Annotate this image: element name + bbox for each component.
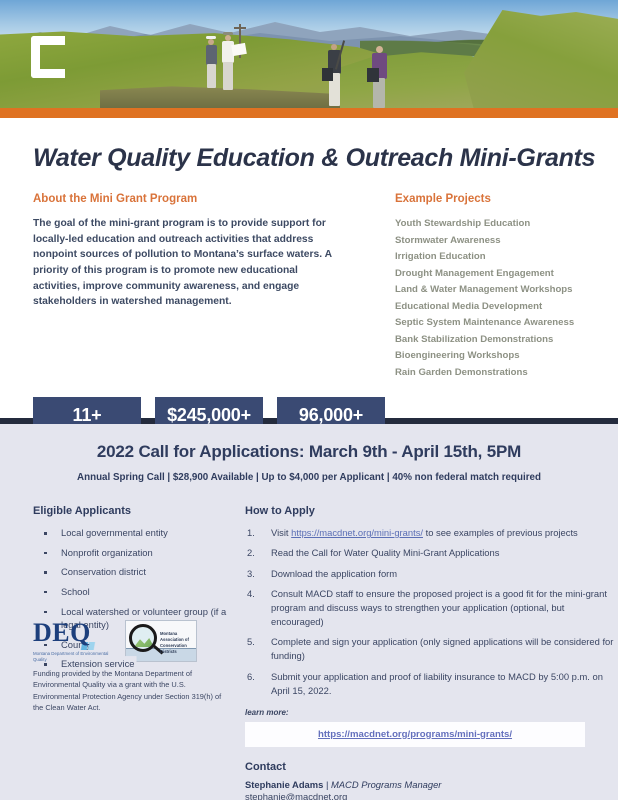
waders (223, 62, 233, 90)
orange-accent-bar (0, 108, 618, 118)
flyer-page: Water Quality Education & Outreach Mini-… (0, 0, 618, 800)
how-to-apply-steps: Visit https://macdnet.org/mini-grants/ t… (245, 526, 618, 698)
list-item: Conservation district (33, 565, 232, 579)
about-column: About the Mini Grant Program The goal of… (0, 193, 380, 381)
learn-more-box[interactable]: https://macdnet.org/programs/mini-grants… (245, 722, 585, 747)
contact-heading: Contact (245, 761, 618, 773)
funder-logos: DEQ Montana Department of Environmental … (33, 620, 197, 663)
list-item: Irrigation Education (395, 249, 618, 266)
programs-mini-grants-link[interactable]: https://macdnet.org/programs/mini-grants… (318, 729, 512, 740)
conservation-c-logo-icon (31, 36, 65, 78)
call-for-applications-title: 2022 Call for Applications: March 9th - … (0, 424, 618, 462)
list-item: Educational Media Development (395, 299, 618, 316)
person-wading-3 (325, 44, 347, 106)
how-to-apply-heading: How to Apply (245, 505, 618, 517)
list-item: Septic System Maintenance Awareness (395, 315, 618, 332)
about-columns: About the Mini Grant Program The goal of… (0, 173, 618, 381)
deq-logo: DEQ Montana Department of Environmental … (33, 620, 111, 663)
list-item: Submit your application and proof of lia… (245, 670, 618, 698)
torso (206, 45, 217, 65)
example-projects-column: Example Projects Youth Stewardship Educa… (380, 193, 618, 381)
list-item: Read the Call for Water Quality Mini-Gra… (245, 546, 618, 560)
deq-logo-subtitle: Montana Department of Environmental Qual… (33, 651, 111, 663)
list-item: Visit https://macdnet.org/mini-grants/ t… (245, 526, 618, 540)
mini-grants-link[interactable]: https://macdnet.org/mini-grants/ (291, 527, 423, 538)
list-item: Bioengineering Workshops (395, 348, 618, 365)
about-heading: About the Mini Grant Program (33, 193, 380, 205)
list-item: Complete and sign your application (only… (245, 635, 618, 663)
list-item: Drought Management Engagement (395, 266, 618, 283)
contact-name: Stephanie Adams (245, 779, 323, 790)
sampling-bag (367, 68, 379, 82)
step-text-post: to see examples of previous projects (423, 527, 578, 538)
application-section: 2022 Call for Applications: March 9th - … (0, 424, 618, 800)
list-item: Nonprofit organization (33, 546, 232, 560)
list-item: Download the application form (245, 567, 618, 581)
macd-logo: Montana Association of Conservation Dist… (125, 620, 197, 662)
contact-name-role: Stephanie Adams | MACD Programs Manager (245, 779, 618, 790)
call-for-applications-subtitle: Annual Spring Call | $28,900 Available |… (0, 462, 618, 483)
sampling-bag (322, 68, 333, 81)
how-to-apply-column: How to Apply Visit https://macdnet.org/m… (232, 505, 618, 800)
about-section: Water Quality Education & Outreach Mini-… (0, 118, 618, 418)
example-projects-list: Youth Stewardship Education Stormwater A… (395, 216, 618, 381)
list-item: Stormwater Awareness (395, 233, 618, 250)
list-item: Rain Garden Demonstrations (395, 365, 618, 382)
step-text-pre: Visit (271, 527, 291, 538)
example-projects-heading: Example Projects (395, 193, 618, 205)
list-item: Land & Water Management Workshops (395, 282, 618, 299)
list-item: Youth Stewardship Education (395, 216, 618, 233)
funding-disclaimer: Funding provided by the Montana Departme… (33, 668, 225, 713)
stat-number: 11+ (73, 406, 102, 425)
list-item: Local governmental entity (33, 526, 232, 540)
page-title: Water Quality Education & Outreach Mini-… (0, 134, 618, 173)
waders (207, 64, 216, 88)
hero-photo (0, 0, 618, 108)
contact-role: MACD Programs Manager (331, 779, 441, 790)
waders (373, 78, 385, 108)
stat-number: $245,000+ (167, 406, 251, 425)
macd-logo-text: Montana Association of Conservation Dist… (160, 631, 196, 655)
contact-separator: | (326, 779, 328, 790)
head (376, 46, 383, 53)
list-item: Consult MACD staff to ensure the propose… (245, 587, 618, 629)
list-item: School (33, 585, 232, 599)
learn-more-label: learn more: (245, 708, 618, 717)
person-wading-2 (219, 32, 241, 90)
list-item: Bank Stabilization Demonstrations (395, 332, 618, 349)
stat-number: 96,000+ (299, 406, 363, 425)
contact-email[interactable]: stephanie@macdnet.org (245, 790, 618, 800)
about-body: The goal of the mini-grant program is to… (33, 216, 345, 310)
eligible-applicants-heading: Eligible Applicants (33, 505, 232, 517)
person-wading-4 (368, 46, 394, 108)
